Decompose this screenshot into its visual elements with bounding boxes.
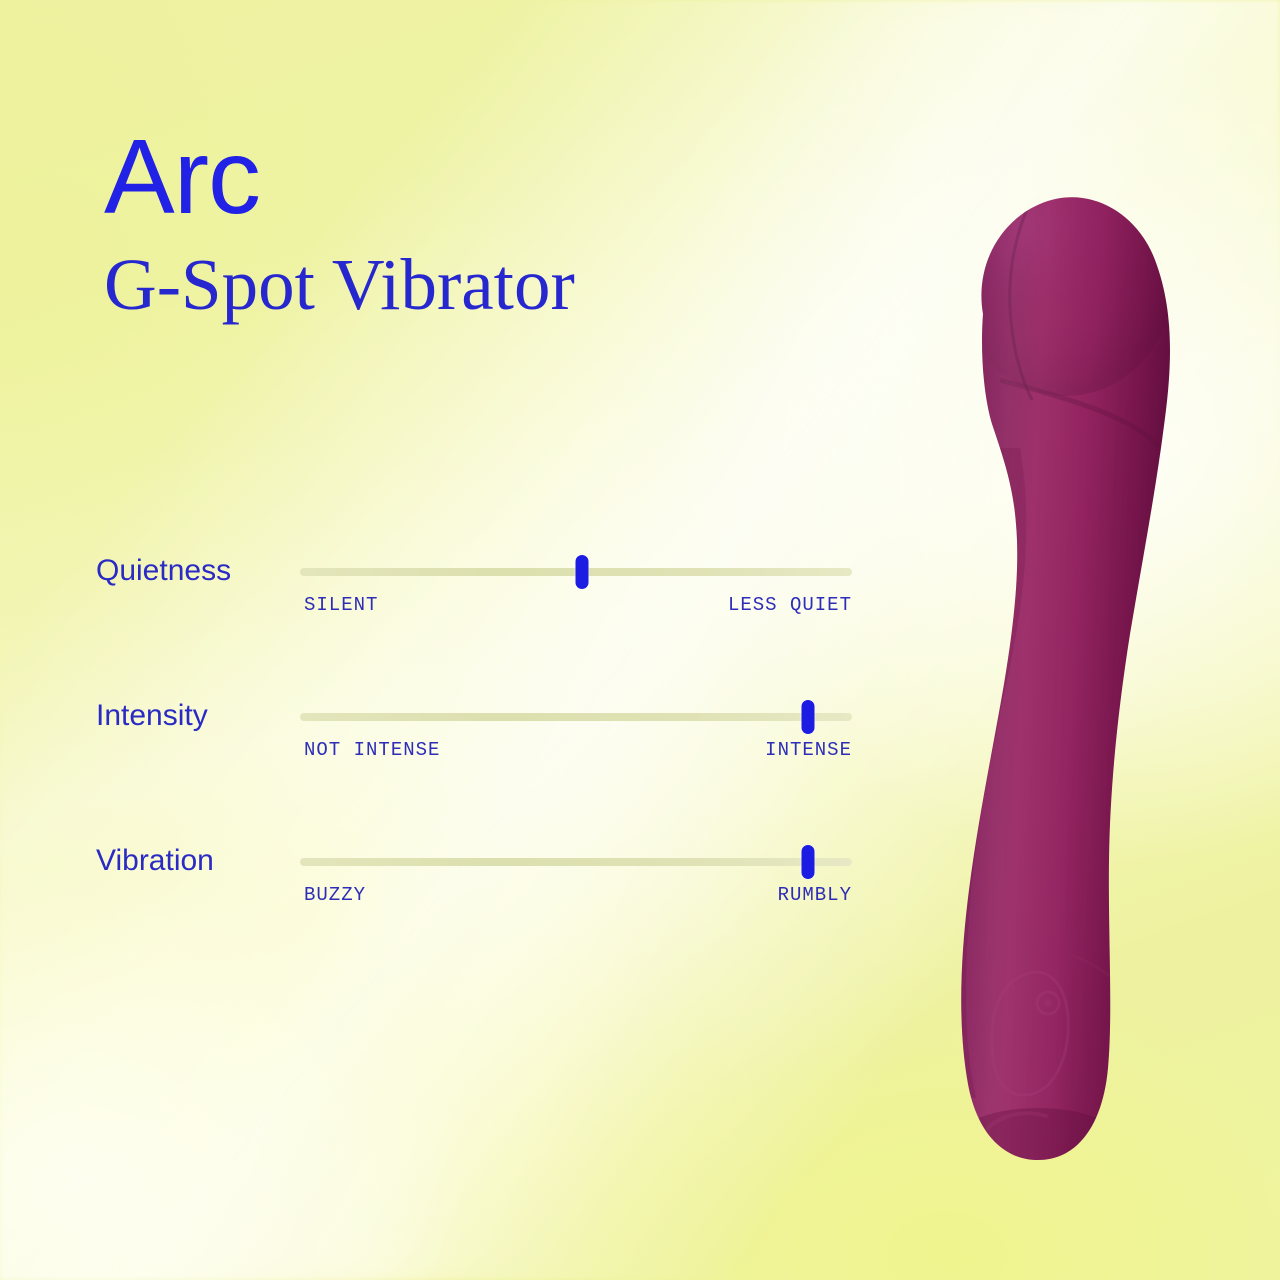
slider-quietness[interactable]: SILENT LESS QUIET — [300, 540, 852, 616]
slider-track-vibration[interactable] — [300, 858, 852, 866]
spec-row-vibration: Vibration BUZZY RUMBLY — [96, 830, 876, 975]
product-image — [880, 118, 1180, 1178]
vibrator-body — [880, 118, 1180, 1178]
slider-endlabels-intensity: NOT INTENSE INTENSE — [300, 739, 852, 761]
page-subtitle: G-Spot Vibrator — [104, 248, 575, 322]
slider-vibration[interactable]: BUZZY RUMBLY — [300, 830, 852, 906]
slider-track-intensity[interactable] — [300, 713, 852, 721]
spec-label-intensity: Intensity — [96, 699, 208, 733]
slider-intensity[interactable]: NOT INTENSE INTENSE — [300, 685, 852, 761]
slider-max-label-vibration: RUMBLY — [778, 884, 852, 906]
spec-label-vibration: Vibration — [96, 844, 214, 878]
product-spec-card: Arc G-Spot Vibrator Quietness SILENT LES… — [0, 0, 1280, 1280]
slider-thumb-quietness[interactable] — [575, 555, 588, 589]
spec-label-quietness: Quietness — [96, 554, 231, 588]
title-block: Arc G-Spot Vibrator — [104, 126, 575, 322]
slider-endlabels-vibration: BUZZY RUMBLY — [300, 884, 852, 906]
slider-thumb-intensity[interactable] — [801, 700, 814, 734]
slider-max-label-intensity: INTENSE — [765, 739, 852, 761]
slider-min-label-quietness: SILENT — [304, 594, 378, 616]
slider-max-label-quietness: LESS QUIET — [728, 594, 852, 616]
spec-row-intensity: Intensity NOT INTENSE INTENSE — [96, 685, 876, 830]
slider-min-label-intensity: NOT INTENSE — [304, 739, 440, 761]
slider-track-quietness[interactable] — [300, 568, 852, 576]
spec-slider-list: Quietness SILENT LESS QUIET Intensity NO… — [96, 540, 876, 975]
slider-thumb-vibration[interactable] — [801, 845, 814, 879]
spec-row-quietness: Quietness SILENT LESS QUIET — [96, 540, 876, 685]
page-title: Arc — [104, 126, 575, 230]
slider-endlabels-quietness: SILENT LESS QUIET — [300, 594, 852, 616]
slider-min-label-vibration: BUZZY — [304, 884, 366, 906]
